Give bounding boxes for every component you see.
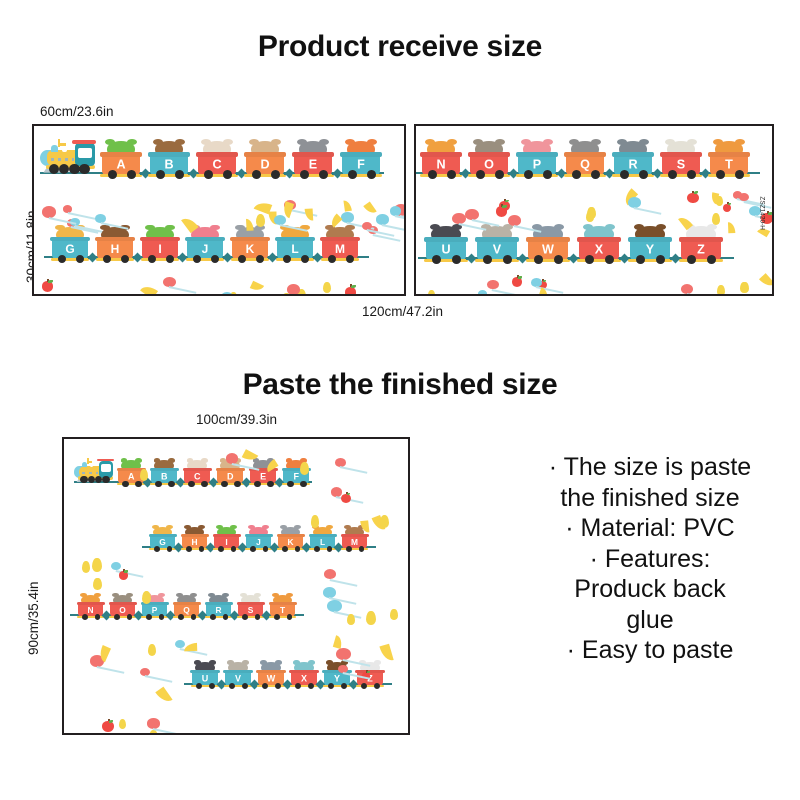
decoration-balloon-pink <box>335 458 346 467</box>
train-car-wheel <box>452 255 461 264</box>
sheet-panel-left: ABCDEF GHIJKLM <box>32 124 406 296</box>
train-car-wheel <box>229 683 235 689</box>
train-car-letter: W <box>528 243 568 256</box>
train-car-lip <box>50 237 90 241</box>
train-car-x: X <box>579 239 619 260</box>
decoration-pear <box>390 609 397 620</box>
train-car-lip <box>275 237 315 241</box>
train-car-m: M <box>322 239 358 259</box>
bullet-line-5: glue <box>500 605 800 636</box>
dimension-label-total-width: 120cm/47.2in <box>362 304 443 319</box>
train-car-lip <box>140 237 180 241</box>
train-car-lip <box>320 237 360 241</box>
animal-ear-right <box>209 660 216 664</box>
train-car-wheel <box>76 255 84 263</box>
train-car-letter: K <box>232 243 268 255</box>
train-car-letter: U <box>426 243 466 256</box>
bullet-line-2: · Material: PVC <box>500 513 800 544</box>
train-car-chassis <box>679 259 722 262</box>
decoration-balloon-teal <box>221 292 233 296</box>
finished-layout-preview: ABCDEF GHIJKLM NOPQRST UVWXYZ <box>62 437 410 735</box>
train-car-chassis <box>526 259 569 262</box>
decoration-apple <box>687 193 698 204</box>
train-car-i: I <box>142 239 178 259</box>
train-car-letter: H <box>97 243 133 255</box>
train-car-letter: M <box>322 243 358 255</box>
train-car-letter: Z <box>681 243 721 256</box>
train-car-letter: Y <box>630 243 670 256</box>
decoration-balloon-pink <box>147 718 160 728</box>
decoration-balloon-pink <box>452 213 466 224</box>
decoration-balloon-teal <box>628 197 641 208</box>
bullet-line-4: Produck back <box>500 574 800 605</box>
train-car-lip <box>475 237 520 242</box>
decoration-pear <box>380 515 389 528</box>
train-car-wheel <box>346 255 354 263</box>
train-car-wheel <box>262 683 268 689</box>
animal-ear-left <box>430 224 440 230</box>
decoration-balloon-teal <box>531 278 542 287</box>
animal-ear-right <box>554 224 564 230</box>
train-car-wheel <box>256 255 264 263</box>
animal-ear-right <box>210 225 219 231</box>
decoration-apple <box>345 287 357 296</box>
train-car-chassis <box>475 259 518 262</box>
decoration-pear <box>93 578 102 590</box>
animal-ear-left <box>583 224 593 230</box>
train-car-letter: I <box>142 243 178 255</box>
train-car-j: J <box>187 239 223 259</box>
train-car-lip <box>679 237 724 242</box>
train-car-wheel <box>209 683 215 689</box>
train-car-wheel <box>283 255 291 263</box>
train-car-chassis <box>577 259 620 262</box>
dimension-label-panel-width: 60cm/23.6in <box>40 104 114 119</box>
train-car-wheel <box>483 255 492 264</box>
decoration-balloon-pink <box>287 284 300 295</box>
animal-ear-left <box>634 224 644 230</box>
train-car-letter: L <box>277 243 313 255</box>
train-car-wheel <box>503 255 512 264</box>
train-car-wheel <box>211 255 219 263</box>
train-car-u: U <box>426 239 466 260</box>
product-code-label: ZSZ1420-H <box>759 196 766 230</box>
train-car-w: W <box>258 671 284 686</box>
decoration-apple <box>102 721 113 732</box>
decoration-pear <box>740 282 748 294</box>
animal-ear-right <box>165 225 174 231</box>
train-car-wheel <box>193 255 201 263</box>
decoration-pear <box>119 719 126 729</box>
train-car-wheel <box>328 683 334 689</box>
animal-ear-left <box>293 660 300 664</box>
decoration-pear <box>366 611 376 625</box>
bullet-line-1: the finished size <box>500 483 800 514</box>
train-car-wheel <box>148 255 156 263</box>
decoration-balloon-teal <box>341 212 354 222</box>
dimension-label-finished-height: 90cm/35.4in <box>26 581 41 655</box>
train-car-letter: U <box>192 674 218 683</box>
decoration-balloon-pink <box>487 280 499 290</box>
train-car-v: V <box>225 671 251 686</box>
decoration-balloon-pink <box>331 487 342 496</box>
decoration-balloon-teal <box>478 290 487 296</box>
train-car-wheel <box>361 683 367 689</box>
dimension-label-finished-width: 100cm/39.3in <box>196 412 277 427</box>
train-car-lip <box>95 237 135 241</box>
train-car-y: Y <box>630 239 670 260</box>
train-car-wheel <box>605 255 614 264</box>
train-car-letter: V <box>225 674 251 683</box>
train-car-wheel <box>58 255 66 263</box>
page-title-receive-size: Product receive size <box>0 30 800 64</box>
train-car-wheel <box>238 255 246 263</box>
train-car-wheel <box>636 255 645 264</box>
animal-ear-right <box>605 224 615 230</box>
train-car-lip <box>185 237 225 241</box>
train-car-letter: Y <box>324 674 350 683</box>
train-car-letter: G <box>52 243 88 255</box>
bullet-line-3: · Features: <box>500 544 800 575</box>
train-car-wheel <box>328 255 336 263</box>
product-listing-page: Product receive size 60cm/23.6in 30cm/11… <box>0 0 800 800</box>
train-car-w: W <box>528 239 568 260</box>
animal-ear-right <box>308 660 315 664</box>
train-car-wheel <box>308 683 314 689</box>
train-car-wheel <box>242 683 248 689</box>
decoration-pear <box>717 285 725 296</box>
train-car-letter: X <box>291 674 317 683</box>
train-car-wheel <box>196 683 202 689</box>
train-car-wheel <box>275 683 281 689</box>
decoration-balloon-pink <box>42 206 56 217</box>
train-car-letter: J <box>187 243 223 255</box>
decoration-apple <box>512 277 522 286</box>
train-car-wheel <box>585 255 594 264</box>
train-car-chassis <box>628 259 671 262</box>
decoration-balloon-pink <box>362 222 372 230</box>
animal-ear-right <box>656 224 666 230</box>
animal-ear-left <box>235 225 244 231</box>
train-car-wheel <box>656 255 665 264</box>
train-car-wheel <box>103 255 111 263</box>
train-car-lip <box>628 237 673 242</box>
animal-ear-right <box>275 660 282 664</box>
decoration-pear <box>347 614 355 625</box>
decoration-balloon-teal <box>327 600 342 612</box>
train-car-lip <box>577 237 622 242</box>
train-car-wheel <box>534 255 543 264</box>
animal-ear-left <box>194 660 201 664</box>
train-car-wheel <box>432 255 441 264</box>
train-car-wheel <box>554 255 563 264</box>
decoration-pear <box>311 515 320 528</box>
decoration-pear <box>92 558 102 572</box>
decoration-balloon-teal <box>376 214 389 224</box>
animal-ear-right <box>242 660 249 664</box>
decoration-balloon-teal <box>95 214 105 223</box>
decoration-balloon-pink <box>140 668 150 676</box>
decoration-balloon-pink <box>508 215 521 226</box>
train-car-wheel <box>707 255 716 264</box>
train-car-wheel <box>166 255 174 263</box>
train-car-lip <box>424 237 469 242</box>
bullet-line-0: · The size is paste <box>500 452 800 483</box>
decoration-balloon-teal <box>390 206 401 215</box>
train-car-wheel <box>687 255 696 264</box>
animal-ear-left <box>227 660 234 664</box>
feature-bullet-list: · The size is paste the finished size · … <box>500 452 800 666</box>
decoration-balloon-pink <box>338 665 348 673</box>
train-car-lip <box>230 237 270 241</box>
train-car-l: L <box>277 239 313 259</box>
train-car-g: G <box>52 239 88 259</box>
decoration-pear <box>142 591 151 604</box>
train-car-wheel <box>295 683 301 689</box>
train-car-letter: V <box>477 243 517 256</box>
decoration-apple <box>42 281 53 292</box>
decoration-pear <box>587 207 596 220</box>
decoration-apple <box>496 206 507 217</box>
decoration-pear <box>300 462 309 475</box>
train-car-v: V <box>477 239 517 260</box>
train-car-wheel <box>121 255 129 263</box>
decoration-balloon-pink <box>226 453 239 464</box>
train-car-letter: W <box>258 674 284 683</box>
decoration-pear <box>428 290 435 296</box>
train-car-lip <box>526 237 571 242</box>
decoration-balloon-pink <box>465 209 479 220</box>
decoration-balloon-pink <box>163 277 175 287</box>
train-car-chassis <box>424 259 467 262</box>
animal-ear-left <box>326 660 333 664</box>
train-car-wheel <box>301 255 309 263</box>
animal-ear-left <box>145 225 154 231</box>
train-car-z: Z <box>681 239 721 260</box>
train-car-k: K <box>232 239 268 259</box>
decoration-balloon-pink <box>63 205 72 213</box>
page-title-paste-size: Paste the finished size <box>0 368 800 402</box>
animal-ear-left <box>260 660 267 664</box>
sheet-panel-right: NOPQRST UVWXYZ ZSZ1420-H <box>414 124 774 296</box>
bullet-line-6: · Easy to paste <box>500 635 800 666</box>
animal-ear-left <box>55 225 64 231</box>
decoration-pear <box>148 644 156 656</box>
train-car-h: H <box>97 239 133 259</box>
train-car-x: X <box>291 671 317 686</box>
decoration-apple <box>119 571 128 580</box>
decoration-balloon-teal <box>274 215 286 225</box>
train-car-wheel <box>374 683 380 689</box>
train-car-letter: X <box>579 243 619 256</box>
train-car-wheel <box>341 683 347 689</box>
train-car-u: U <box>192 671 218 686</box>
animal-ear-right <box>374 660 381 664</box>
